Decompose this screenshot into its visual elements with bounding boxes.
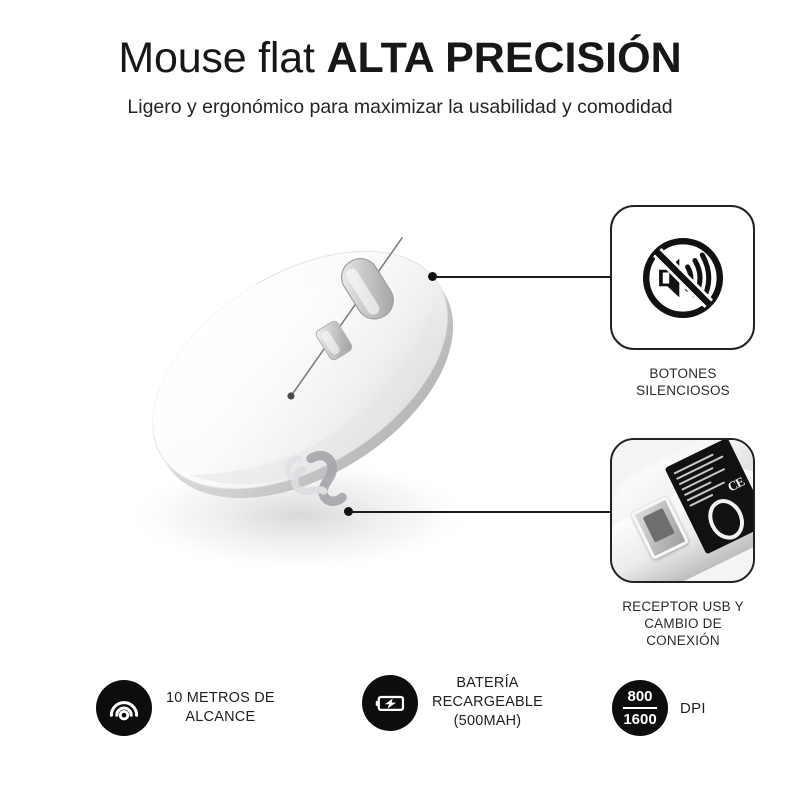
feature-dpi: 800 1600 DPI: [612, 680, 706, 736]
title-light-part: Mouse flat: [118, 34, 326, 82]
feature-dpi-badge: 800 1600: [612, 680, 668, 736]
callout-label-2-line3: CONEXIÓN: [588, 632, 778, 649]
wireless-signal-icon: [106, 690, 142, 726]
callout-box-1: [610, 205, 755, 350]
callout-connector-line-2: [350, 511, 612, 513]
callout-label-2-line1: RECEPTOR USB Y: [588, 598, 778, 615]
callout-label-1: BOTONES SILENCIOSOS: [588, 365, 778, 399]
dpi-divider: [623, 707, 657, 709]
product-image: [95, 185, 525, 585]
mouse-illustration: [95, 185, 525, 585]
callout-box-2: CE: [610, 438, 755, 583]
page-title: Mouse flat ALTA PRECISIÓN: [0, 30, 800, 86]
feature-range-badge: [96, 680, 152, 736]
callout-label-2: RECEPTOR USB Y CAMBIO DE CONEXIÓN: [588, 598, 778, 649]
callout-label-1-line2: SILENCIOSOS: [588, 382, 778, 399]
feature-battery-line2: RECARGEABLE: [432, 693, 543, 712]
feature-dpi-label: DPI: [680, 700, 706, 717]
feature-range-line1: 10 METROS DE: [166, 689, 275, 708]
callout-usb-receiver: CE RECEPTOR USB Y CAMBIO DE CONEXIÓN: [610, 438, 755, 583]
feature-battery-label: BATERÍA RECARGEABLE (500MAH): [432, 674, 543, 731]
rechargeable-battery-icon: [371, 684, 409, 722]
feature-range-label: 10 METROS DE ALCANCE: [166, 689, 275, 727]
feature-battery: BATERÍA RECARGEABLE (500MAH): [362, 674, 543, 731]
callout-label-2-line2: CAMBIO DE: [588, 615, 778, 632]
title-bold-part: ALTA PRECISIÓN: [326, 34, 681, 82]
dpi-badge-icon: 800 1600: [623, 689, 657, 727]
callout-label-1-line1: BOTONES: [588, 365, 778, 382]
usb-dongle-contacts: [643, 508, 675, 543]
feature-range: 10 METROS DE ALCANCE: [96, 680, 275, 736]
feature-list: 10 METROS DE ALCANCE BATERÍA RECARGEABLE…: [0, 680, 800, 775]
callout-connector-line-1: [434, 276, 612, 278]
page-subtitle: Ligero y ergonómico para maximizar la us…: [0, 92, 800, 122]
feature-battery-badge: [362, 675, 418, 731]
usb-receiver-photo: CE: [612, 440, 753, 581]
ce-mark-icon: CE: [725, 474, 746, 495]
callout-silent-buttons: BOTONES SILENCIOSOS: [610, 205, 755, 350]
feature-range-line2: ALCANCE: [166, 708, 275, 727]
feature-battery-line1: BATERÍA: [432, 674, 543, 693]
dpi-low-value: 800: [627, 689, 652, 706]
dpi-high-value: 1600: [623, 710, 656, 727]
feature-battery-line3: (500MAH): [432, 712, 543, 731]
product-infographic: Mouse flat ALTA PRECISIÓN Ligero y ergon…: [0, 0, 800, 800]
mute-speaker-icon: [637, 232, 729, 324]
